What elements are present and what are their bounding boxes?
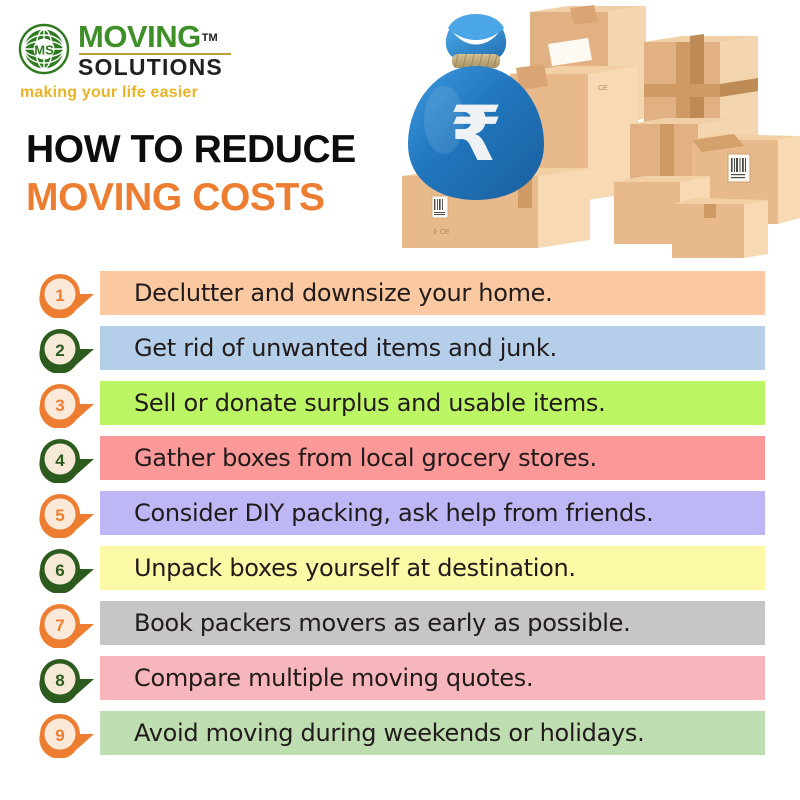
brand-logo[interactable]: MS MOVINGTM SOLUTIONS making your life e… [18, 20, 278, 110]
tips-list: 1 Declutter and downsize your home. 2 Ge… [0, 268, 800, 763]
step-number: 3 [55, 396, 64, 415]
step-number: 6 [55, 561, 64, 580]
list-item[interactable]: 5 Consider DIY packing, ask help from fr… [0, 488, 800, 540]
tip-bar[interactable]: Book packers movers as early as possible… [100, 601, 765, 645]
tip-bar[interactable]: Sell or donate surplus and usable items. [100, 381, 765, 425]
tip-bar[interactable]: Declutter and downsize your home. [100, 271, 765, 315]
step-number: 2 [55, 341, 64, 360]
money-bag-icon: ₹ [408, 14, 544, 200]
tip-text: Declutter and downsize your home. [100, 279, 552, 307]
list-item[interactable]: 7 Book packers movers as early as possib… [0, 598, 800, 650]
step-badge-4: 4 [36, 435, 98, 483]
tip-text: Avoid moving during weekends or holidays… [100, 719, 644, 747]
tip-text: Get rid of unwanted items and junk. [100, 334, 557, 362]
step-badge-3: 3 [36, 380, 98, 428]
step-badge-2: 2 [36, 325, 98, 373]
tip-bar[interactable]: Avoid moving during weekends or holidays… [100, 711, 765, 755]
logo-tagline: making your life easier [20, 84, 278, 102]
tip-text: Consider DIY packing, ask help from frie… [100, 499, 653, 527]
step-badge-8: 8 [36, 655, 98, 703]
step-badge-9: 9 [36, 710, 98, 758]
tip-text: Gather boxes from local grocery stores. [100, 444, 597, 472]
list-item[interactable]: 2 Get rid of unwanted items and junk. [0, 323, 800, 375]
box-bottom-small [672, 198, 768, 258]
logo-wordmark: MOVINGTM SOLUTIONS [78, 20, 231, 79]
step-number: 5 [55, 506, 64, 525]
list-item[interactable]: 3 Sell or donate surplus and usable item… [0, 378, 800, 430]
list-item[interactable]: 9 Avoid moving during weekends or holida… [0, 708, 800, 760]
step-badge-6: 6 [36, 545, 98, 593]
list-item[interactable]: 1 Declutter and downsize your home. [0, 268, 800, 320]
list-item[interactable]: 8 Compare multiple moving quotes. [0, 653, 800, 705]
title-line-2: MOVING COSTS [26, 178, 356, 218]
svg-text:CE: CE [598, 85, 608, 92]
logo-row: MS MOVINGTM SOLUTIONS [18, 20, 278, 79]
logo-name-primary: MOVING [78, 22, 201, 51]
trademark-symbol: TM [202, 32, 218, 44]
ms-globe-icon: MS [18, 23, 70, 75]
step-number: 4 [55, 451, 65, 470]
svg-text:MS: MS [34, 43, 54, 58]
tip-bar[interactable]: Gather boxes from local grocery stores. [100, 436, 765, 480]
tip-text: Book packers movers as early as possible… [100, 609, 630, 637]
infographic-page: MS MOVINGTM SOLUTIONS making your life e… [0, 0, 800, 800]
tip-text: Compare multiple moving quotes. [100, 664, 533, 692]
title-line-1: HOW TO REDUCE [26, 130, 356, 170]
tip-bar[interactable]: Consider DIY packing, ask help from frie… [100, 491, 765, 535]
logo-name-secondary: SOLUTIONS [78, 55, 231, 79]
tip-bar[interactable]: Unpack boxes yourself at destination. [100, 546, 765, 590]
tip-text: Unpack boxes yourself at destination. [100, 554, 576, 582]
money-bag-and-moving-boxes-illustration: CE [392, 0, 800, 266]
step-number: 8 [55, 671, 64, 690]
step-number: 1 [55, 286, 64, 305]
tip-bar[interactable]: Compare multiple moving quotes. [100, 656, 765, 700]
step-badge-7: 7 [36, 600, 98, 648]
list-item[interactable]: 4 Gather boxes from local grocery stores… [0, 433, 800, 485]
step-number: 7 [55, 616, 64, 635]
svg-text:₹: ₹ [450, 89, 503, 178]
step-badge-1: 1 [36, 270, 98, 318]
tip-text: Sell or donate surplus and usable items. [100, 389, 605, 417]
list-item[interactable]: 6 Unpack boxes yourself at destination. [0, 543, 800, 595]
svg-text:⚱ CE: ⚱ CE [432, 229, 450, 236]
page-title: HOW TO REDUCE MOVING COSTS [26, 130, 356, 218]
tip-bar[interactable]: Get rid of unwanted items and junk. [100, 326, 765, 370]
step-number: 9 [55, 726, 64, 745]
step-badge-5: 5 [36, 490, 98, 538]
